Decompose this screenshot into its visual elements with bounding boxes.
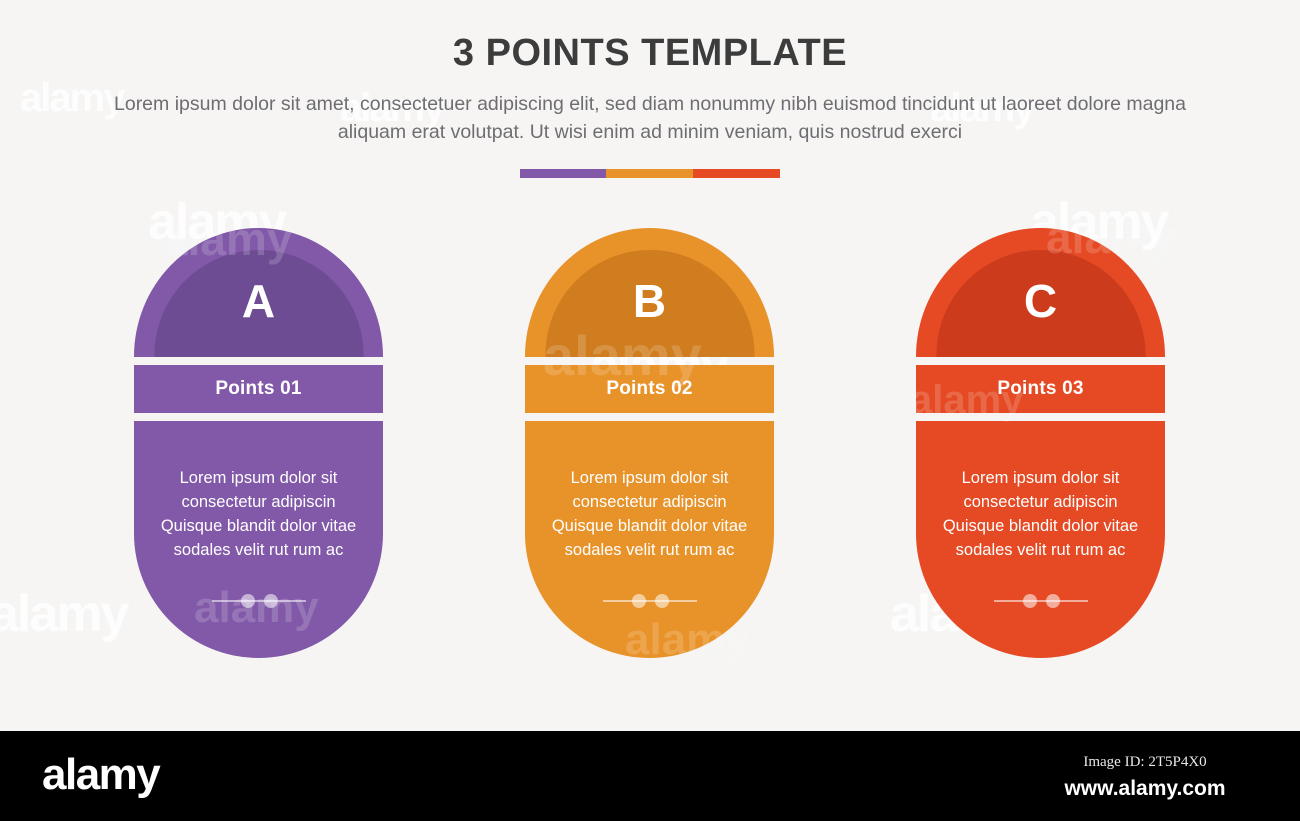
- dot-icon: [241, 594, 255, 608]
- alamy-logo: alamy: [42, 753, 159, 797]
- card-letter: B: [525, 278, 774, 324]
- dots-line: [212, 600, 306, 602]
- dots-line: [994, 600, 1088, 602]
- dot-icon: [632, 594, 646, 608]
- cards-container: A Points 01 Lorem ipsum dolor sit consec…: [0, 228, 1300, 660]
- card-band-label: Points 01: [215, 378, 301, 400]
- card-body-text: Lorem ipsum dolor sit consectetur adipis…: [916, 467, 1165, 563]
- card-band: Points 02: [525, 365, 774, 413]
- point-card[interactable]: B Points 02 Lorem ipsum dolor sit consec…: [525, 228, 774, 658]
- divider-segment-1: [520, 169, 606, 178]
- point-card[interactable]: A Points 01 Lorem ipsum dolor sit consec…: [134, 228, 383, 658]
- infographic-canvas: alamy alamy alamy alamy alamy alamy alam…: [0, 0, 1300, 731]
- card-body-text: Lorem ipsum dolor sit consectetur adipis…: [525, 467, 774, 563]
- card-band: Points 03: [916, 365, 1165, 413]
- divider: [520, 169, 780, 178]
- point-card[interactable]: C Points 03 Lorem ipsum dolor sit consec…: [916, 228, 1165, 658]
- card-dots-decoration: [603, 593, 697, 609]
- page-subtitle: Lorem ipsum dolor sit amet, consectetuer…: [95, 91, 1205, 146]
- dot-icon: [1023, 594, 1037, 608]
- dot-icon: [1046, 594, 1060, 608]
- image-id-label: Image ID: 2T5P4X0: [1020, 754, 1270, 771]
- divider-segment-2: [606, 169, 693, 178]
- dot-icon: [264, 594, 278, 608]
- card-dots-decoration: [994, 593, 1088, 609]
- divider-segment-3: [693, 169, 780, 178]
- dots-line: [603, 600, 697, 602]
- alamy-url: www.alamy.com: [1020, 777, 1270, 801]
- footer-info: Image ID: 2T5P4X0 www.alamy.com: [1020, 754, 1270, 801]
- card-body-block: Lorem ipsum dolor sit consectetur adipis…: [525, 421, 774, 658]
- card-band-label: Points 03: [997, 378, 1083, 400]
- card-letter: C: [916, 278, 1165, 324]
- card-band-label: Points 02: [606, 378, 692, 400]
- card-body-block: Lorem ipsum dolor sit consectetur adipis…: [134, 421, 383, 658]
- header: 3 POINTS TEMPLATE Lorem ipsum dolor sit …: [0, 0, 1300, 146]
- card-letter: A: [134, 278, 383, 324]
- card-dots-decoration: [212, 593, 306, 609]
- page-title: 3 POINTS TEMPLATE: [0, 32, 1300, 75]
- card-body-block: Lorem ipsum dolor sit consectetur adipis…: [916, 421, 1165, 658]
- card-band: Points 01: [134, 365, 383, 413]
- alamy-footer-bar: alamy Image ID: 2T5P4X0 www.alamy.com: [0, 731, 1300, 821]
- dot-icon: [655, 594, 669, 608]
- card-body-text: Lorem ipsum dolor sit consectetur adipis…: [134, 467, 383, 563]
